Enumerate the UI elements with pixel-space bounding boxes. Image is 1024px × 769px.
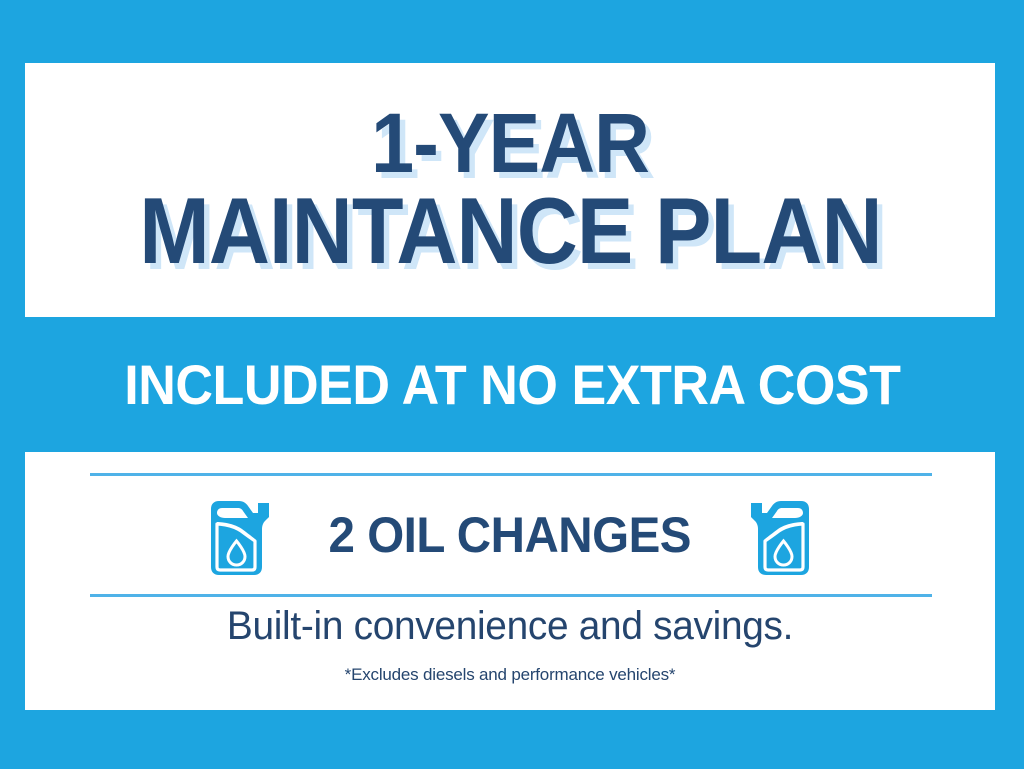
detail-panel: 2 OIL CHANGES Built-in convenience and s…: [25, 452, 995, 710]
feature-row: 2 OIL CHANGES: [25, 476, 995, 594]
disclaimer-text: *Excludes diesels and performance vehicl…: [25, 665, 995, 685]
tagline-text: Built-in convenience and savings.: [40, 604, 981, 649]
promo-poster: 1-YEAR MAINTANCE PLAN INCLUDED AT NO EXT…: [0, 0, 1024, 769]
headline-panel: 1-YEAR MAINTANCE PLAN: [25, 63, 995, 317]
headline-line-1: 1-YEAR: [371, 105, 649, 182]
oil-jug-icon: [201, 491, 273, 579]
subtitle-text: INCLUDED AT NO EXTRA COST: [124, 352, 900, 417]
divider-bottom: [90, 594, 932, 597]
headline-line-2: MAINTANCE PLAN: [139, 188, 881, 274]
subtitle-band: INCLUDED AT NO EXTRA COST: [0, 317, 1024, 452]
oil-jug-icon-mirrored: [747, 491, 819, 579]
feature-label: 2 OIL CHANGES: [329, 506, 691, 564]
